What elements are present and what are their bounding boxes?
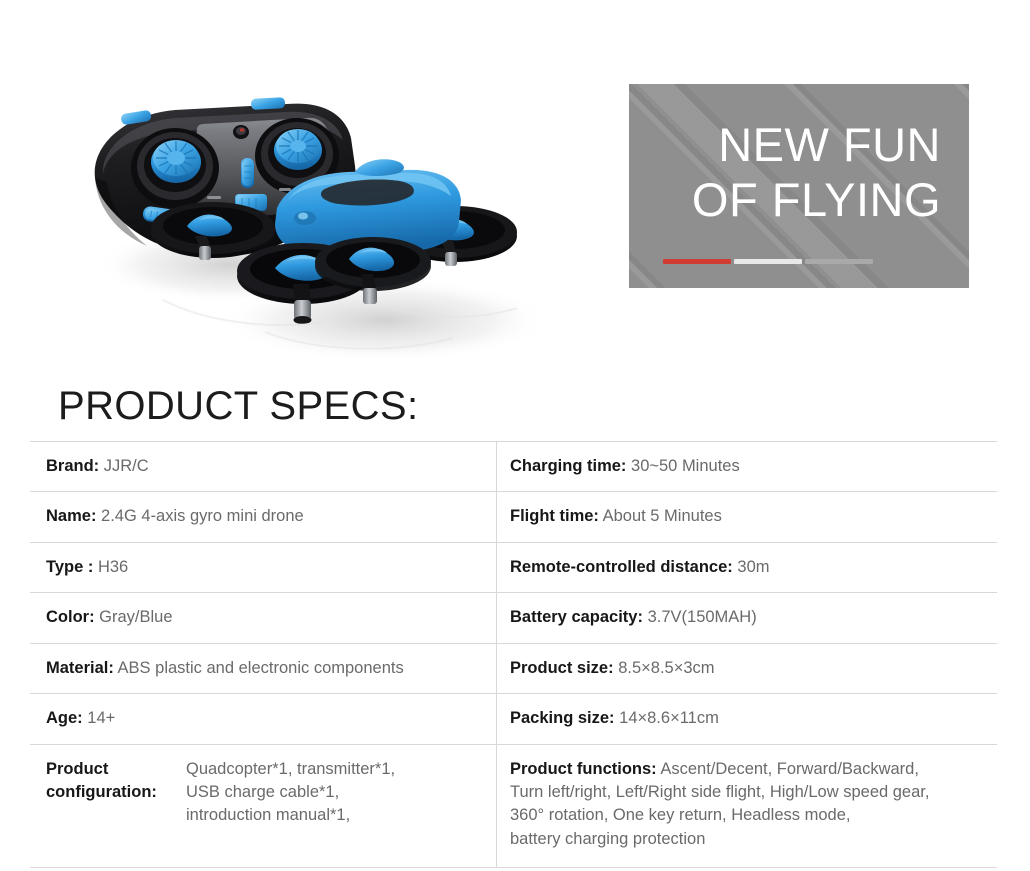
spec-value: 14+ — [87, 709, 115, 727]
banner-headline-line2: OF FLYING — [629, 173, 941, 228]
spec-value: 3.7V(150MAH) — [648, 608, 757, 626]
spec-label: Product functions: — [510, 760, 657, 778]
spec-cell-flight-time: Flight time: About 5 Minutes — [497, 492, 997, 541]
spec-label: Remote-controlled distance: — [510, 558, 733, 576]
spec-label: Color: — [46, 608, 95, 626]
spec-cell-color: Color: Gray/Blue — [30, 593, 497, 642]
spec-cell-product-functions: Product functions: Ascent/Decent, Forwar… — [497, 745, 997, 868]
table-row: Name: 2.4G 4-axis gyro mini drone Flight… — [30, 492, 997, 542]
spec-label: Product size: — [510, 659, 614, 677]
table-row: Type : H36 Remote-controlled distance: 3… — [30, 543, 997, 593]
spec-cell-remote-distance: Remote-controlled distance: 30m — [497, 543, 997, 592]
specs-table: Brand: JJR/C Charging time: 30~50 Minute… — [30, 441, 997, 868]
spec-value: JJR/C — [104, 457, 149, 475]
spec-cell-material: Material: ABS plastic and electronic com… — [30, 644, 497, 693]
spec-value: Gray/Blue — [99, 608, 172, 626]
progress-segment-dim[interactable] — [805, 259, 873, 264]
spec-value: About 5 Minutes — [603, 507, 722, 525]
spec-label: Material: — [46, 659, 114, 677]
product-photo — [55, 70, 575, 370]
banner-progress-indicator[interactable] — [663, 259, 873, 264]
spec-cell-age: Age: 14+ — [30, 694, 497, 743]
spec-value: 2.4G 4-axis gyro mini drone — [101, 507, 304, 525]
spec-label: Packing size: — [510, 709, 615, 727]
spec-cell-product-configuration: Product configuration: Quadcopter*1, tra… — [30, 745, 497, 868]
table-row: Brand: JJR/C Charging time: 30~50 Minute… — [30, 442, 997, 492]
table-row: Age: 14+ Packing size: 14×8.6×11cm — [30, 694, 997, 744]
spec-cell-type: Type : H36 — [30, 543, 497, 592]
spec-value: Quadcopter*1, transmitter*1, USB charge … — [186, 758, 395, 828]
spec-label: Flight time: — [510, 507, 599, 525]
spec-value: 30~50 Minutes — [631, 457, 740, 475]
spec-cell-battery-capacity: Battery capacity: 3.7V(150MAH) — [497, 593, 997, 642]
spec-label: Age: — [46, 709, 83, 727]
spec-cell-name: Name: 2.4G 4-axis gyro mini drone — [30, 492, 497, 541]
spec-cell-packing-size: Packing size: 14×8.6×11cm — [497, 694, 997, 743]
spec-label: Charging time: — [510, 457, 626, 475]
spec-value: 8.5×8.5×3cm — [618, 659, 714, 677]
spec-label: Brand: — [46, 457, 99, 475]
table-row: Color: Gray/Blue Battery capacity: 3.7V(… — [30, 593, 997, 643]
banner-content: NEW FUN OF FLYING — [629, 84, 969, 288]
spec-value: 30m — [737, 558, 769, 576]
spec-cell-brand: Brand: JJR/C — [30, 442, 497, 491]
table-row: Material: ABS plastic and electronic com… — [30, 644, 997, 694]
table-row: Product configuration: Quadcopter*1, tra… — [30, 745, 997, 869]
banner-headline-line1: NEW FUN — [629, 118, 941, 173]
spec-value: ABS plastic and electronic components — [118, 659, 404, 677]
spec-label: Battery capacity: — [510, 608, 643, 626]
spec-label: Product configuration: — [46, 758, 186, 805]
progress-segment-light[interactable] — [734, 259, 802, 264]
progress-segment-active[interactable] — [663, 259, 731, 264]
promo-banner: NEW FUN OF FLYING — [629, 84, 969, 288]
spec-label: Name: — [46, 507, 96, 525]
page-title: PRODUCT SPECS: — [58, 386, 418, 426]
hero-section: NEW FUN OF FLYING — [0, 0, 1030, 375]
spec-value: H36 — [98, 558, 128, 576]
spec-value: 14×8.6×11cm — [619, 709, 719, 727]
spec-cell-product-size: Product size: 8.5×8.5×3cm — [497, 644, 997, 693]
spec-cell-charging-time: Charging time: 30~50 Minutes — [497, 442, 997, 491]
spec-label: Type : — [46, 558, 93, 576]
